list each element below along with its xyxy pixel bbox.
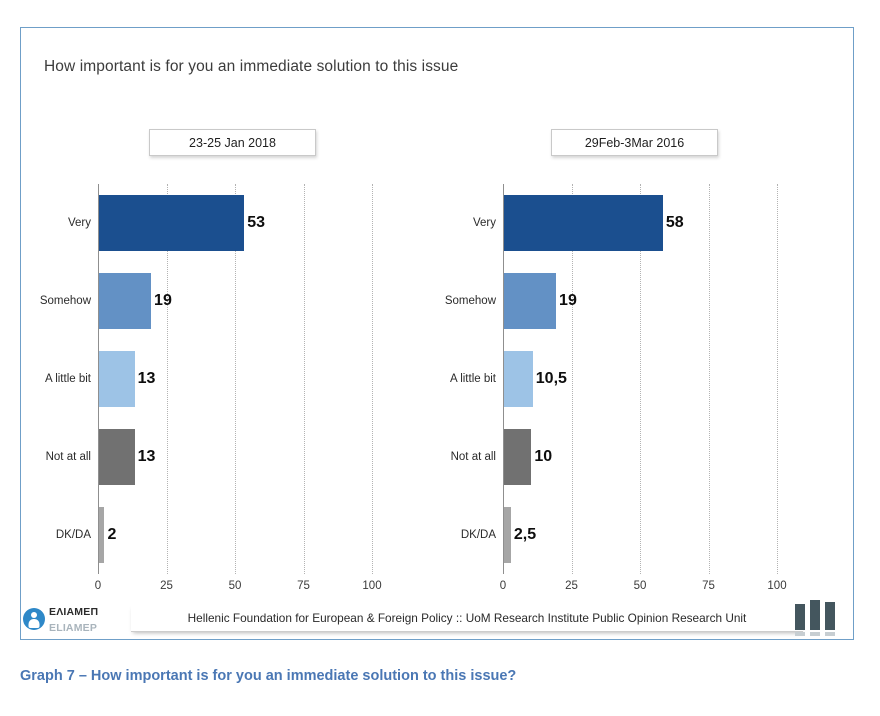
logo-latin-label: ELIAMEP — [49, 622, 97, 634]
category-label: A little bit — [418, 351, 496, 407]
x-axis-tick-label: 75 — [702, 580, 715, 592]
slide-root: How important is for you an immediate so… — [0, 0, 880, 716]
gridline — [777, 184, 778, 574]
page-title: How important is for you an immediate so… — [44, 58, 458, 76]
bar-row: Very58 — [504, 195, 684, 251]
bar — [99, 507, 104, 563]
bar-value-label: 2,5 — [514, 526, 536, 544]
bar — [99, 195, 244, 251]
category-label: Very — [13, 195, 91, 251]
bar — [99, 429, 135, 485]
x-axis-tick-label: 50 — [634, 580, 647, 592]
panel-title-left: 23-25 Jan 2018 — [149, 129, 316, 156]
bar — [99, 273, 151, 329]
figure-caption: Graph 7 – How important is for you an im… — [20, 668, 516, 684]
bar-value-label: 19 — [154, 292, 172, 310]
gridline — [304, 184, 305, 574]
eliamep-logo: ΕΛΙΑΜΕΠ ELIAMEP — [23, 603, 127, 635]
logo-greek-label: ΕΛΙΑΜΕΠ — [49, 606, 98, 618]
category-label: Not at all — [13, 429, 91, 485]
footer-credit-text: Hellenic Foundation for European & Forei… — [131, 604, 803, 632]
x-axis-tick-label: 75 — [297, 580, 310, 592]
eliamep-logo-text: ΕΛΙΑΜΕΠ ELIAMEP — [49, 603, 98, 636]
bar-value-label: 10 — [534, 448, 552, 466]
panel-title-right: 29Feb-3Mar 2016 — [551, 129, 718, 156]
x-axis-tick-label: 25 — [160, 580, 173, 592]
bar-row: DK/DA2,5 — [504, 507, 536, 563]
x-axis-tick-label: 0 — [500, 580, 506, 592]
bar-value-label: 19 — [559, 292, 577, 310]
category-label: Somehow — [13, 273, 91, 329]
bar-row: DK/DA2 — [99, 507, 116, 563]
bar — [504, 507, 511, 563]
bar-row: A little bit13 — [99, 351, 155, 407]
bar-row: Very53 — [99, 195, 265, 251]
bar — [504, 195, 663, 251]
slide-frame: How important is for you an immediate so… — [20, 27, 854, 640]
footer: ΕΛΙΑΜΕΠ ELIAMEP Hellenic Foundation for … — [23, 600, 853, 642]
bar-value-label: 58 — [666, 214, 684, 232]
category-label: DK/DA — [418, 507, 496, 563]
bar — [504, 351, 533, 407]
bars-logo-icon — [795, 600, 841, 638]
bar — [504, 273, 556, 329]
bar-row: Somehow19 — [99, 273, 172, 329]
x-axis-tick-label: 25 — [565, 580, 578, 592]
bar-row: Not at all13 — [99, 429, 155, 485]
gridline — [709, 184, 710, 574]
bar — [99, 351, 135, 407]
category-label: Not at all — [418, 429, 496, 485]
bar-chart-2016: 0255075100Very58Somehow19A little bit10,… — [431, 184, 831, 604]
bar-value-label: 2 — [107, 526, 116, 544]
category-label: DK/DA — [13, 507, 91, 563]
bar-value-label: 53 — [247, 214, 265, 232]
x-axis-tick-label: 50 — [229, 580, 242, 592]
category-label: A little bit — [13, 351, 91, 407]
bar-row: Somehow19 — [504, 273, 577, 329]
category-label: Somehow — [418, 273, 496, 329]
plot-area-left: 0255075100Very53Somehow19A little bit13N… — [98, 184, 372, 574]
bar-chart-2018: 0255075100Very53Somehow19A little bit13N… — [26, 184, 426, 604]
plot-area-right: 0255075100Very58Somehow19A little bit10,… — [503, 184, 777, 574]
eliamep-logo-icon — [23, 608, 45, 630]
bar-value-label: 13 — [138, 448, 156, 466]
bar-row: Not at all10 — [504, 429, 552, 485]
gridline — [372, 184, 373, 574]
x-axis-tick-label: 100 — [767, 580, 786, 592]
bar-value-label: 10,5 — [536, 370, 567, 388]
x-axis-tick-label: 100 — [362, 580, 381, 592]
x-axis-tick-label: 0 — [95, 580, 101, 592]
bar-row: A little bit10,5 — [504, 351, 567, 407]
category-label: Very — [418, 195, 496, 251]
bar-value-label: 13 — [138, 370, 156, 388]
bar — [504, 429, 531, 485]
